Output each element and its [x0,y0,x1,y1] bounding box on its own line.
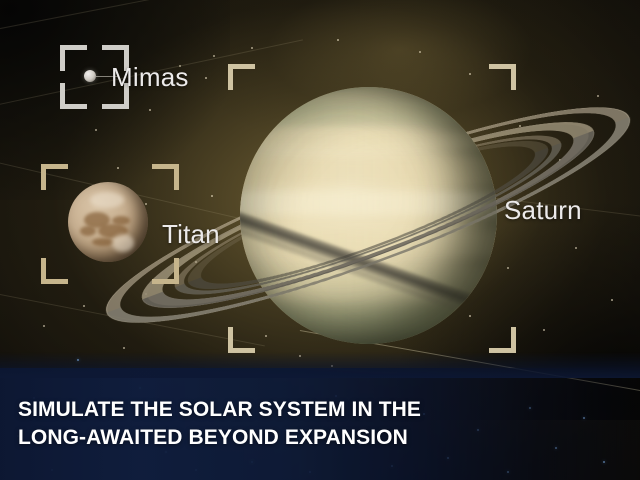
star [251,47,253,49]
star [337,39,339,41]
bracket-corner-bottom-left-icon [41,258,68,284]
caption-line-1: SIMULATE THE SOLAR SYSTEM IN THE [18,398,421,421]
star [83,305,85,307]
star [95,129,97,131]
label-titan[interactable]: Titan [162,219,220,250]
bracket-corner-top-left-icon [41,164,68,190]
bracket-corner-bottom-left-icon [228,327,255,353]
label-mimas[interactable]: Mimas [111,62,189,93]
bracket-corner-bottom-left-icon [60,83,87,109]
caption-text: SIMULATE THE SOLAR SYSTEM IN THE LONG-AW… [18,396,518,452]
star [211,195,213,197]
selection-bracket-saturn[interactable] [228,64,516,353]
saturn-scene: Mimas Titan Saturn SIMULATE THE SOLAR SY… [0,0,640,480]
bracket-corner-top-right-icon [489,64,516,90]
star [149,109,151,111]
bracket-corner-top-left-icon [228,64,255,90]
bracket-corner-bottom-right-icon [489,327,516,353]
star [419,51,421,53]
star [205,77,207,79]
bracket-corner-bottom-right-icon [152,258,179,284]
star [213,55,215,57]
star [597,95,599,97]
label-saturn[interactable]: Saturn [504,195,582,226]
bracket-corner-top-right-icon [152,164,179,190]
caption-band: SIMULATE THE SOLAR SYSTEM IN THE LONG-AW… [0,368,640,480]
selection-bracket-titan[interactable] [41,164,179,284]
bracket-corner-top-left-icon [60,45,87,71]
caption-line-2: LONG-AWAITED BEYOND EXPANSION [18,424,518,452]
